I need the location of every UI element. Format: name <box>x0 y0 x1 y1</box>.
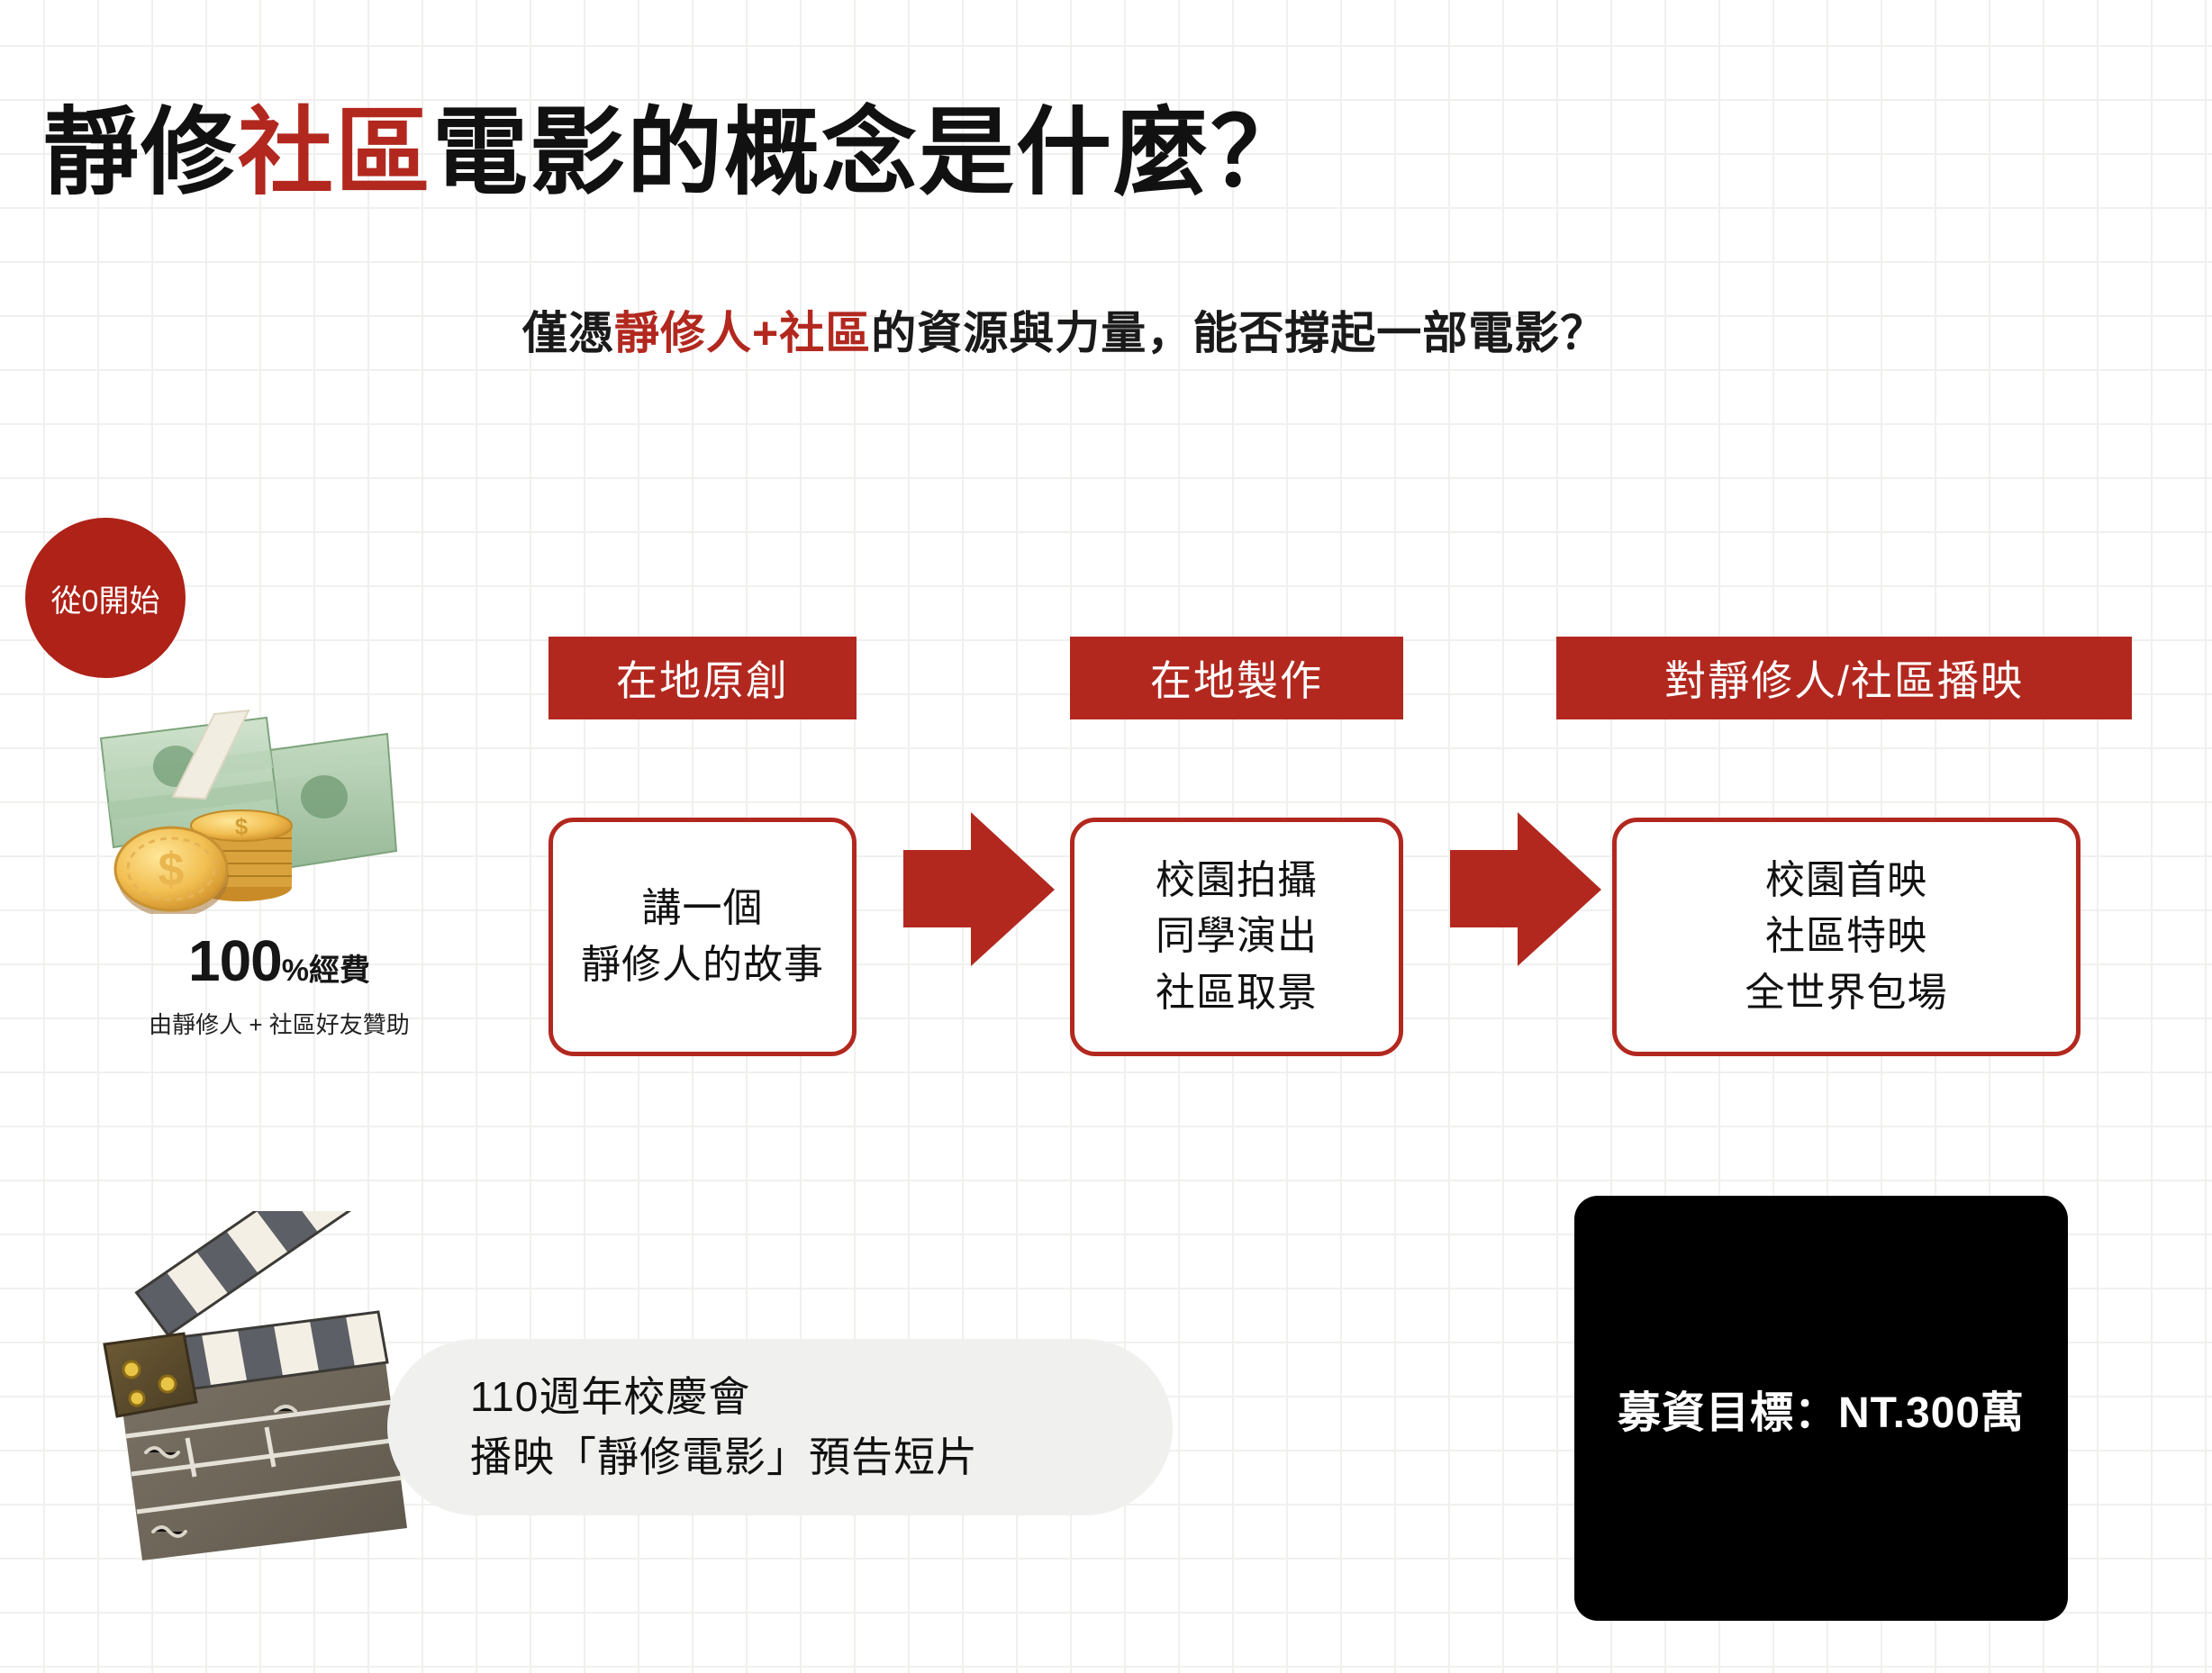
phase-item: 講一個 <box>642 881 764 936</box>
page-subtitle-part2: 的資源與力量，能否撐起一部電影？ <box>871 308 1606 358</box>
phase-header-label: 對靜修人/社區播映 <box>1664 648 2024 708</box>
page-title: 靜修社區電影的概念是什麼？ <box>43 101 1308 206</box>
page-title-part2: 電影的概念是什麼？ <box>432 100 1308 206</box>
phase-item: 社區取景 <box>1156 965 1318 1021</box>
phase-card-screening: 校園首映 社區特映 全世界包場 <box>1612 818 2081 1056</box>
money-cash-stack-icon: $ $ <box>90 671 405 914</box>
film-clapperboard-icon <box>90 1211 423 1562</box>
event-callout-bubble: 110週年校慶會 播映「靜修電影」預告短片 <box>387 1339 1173 1515</box>
svg-text:$: $ <box>159 844 185 896</box>
phase-header-screening: 對靜修人/社區播映 <box>1556 637 2132 719</box>
page-title-highlight: 社區 <box>238 100 432 206</box>
start-from-zero-label: 從0開始 <box>51 576 160 620</box>
phase-card-local-production: 校園拍攝 同學演出 社區取景 <box>1070 818 1403 1056</box>
budget-note: 由靜修人 + 社區好友贊助 <box>90 1007 468 1040</box>
start-from-zero-badge: 從0開始 <box>25 518 186 678</box>
funding-goal-panel: 募資目標：NT.300萬 <box>1574 1196 2068 1621</box>
budget-percentage: 100%經費 <box>99 927 459 994</box>
right-block-arrow-icon <box>903 810 1056 968</box>
page-subtitle-highlight: 靜修人+社區 <box>614 308 871 358</box>
slide-canvas: 靜修社區電影的概念是什麼？ 僅憑靜修人+社區的資源與力量，能否撐起一部電影？ 從… <box>0 0 2212 1673</box>
page-subtitle-part1: 僅憑 <box>522 308 614 358</box>
phase-item: 同學演出 <box>1156 909 1318 964</box>
phase-card-local-original: 講一個 靜修人的故事 <box>548 818 857 1056</box>
page-title-part1: 靜修 <box>43 100 238 206</box>
phase-item: 校園首映 <box>1765 853 1927 909</box>
phase-item: 校園拍攝 <box>1156 853 1318 909</box>
phase-header-label: 在地製作 <box>1150 648 1323 708</box>
budget-percent-value: 100 <box>188 928 282 993</box>
phase-header-local-original: 在地原創 <box>548 637 857 719</box>
phase-item: 全世界包場 <box>1745 965 1948 1021</box>
page-subtitle: 僅憑靜修人+社區的資源與力量，能否撐起一部電影？ <box>522 297 1606 362</box>
svg-text:$: $ <box>235 813 249 840</box>
budget-percent-unit: %經費 <box>282 954 370 988</box>
event-line: 播映「靜修電影」預告短片 <box>470 1427 1173 1488</box>
funding-goal-label: 募資目標：NT.300萬 <box>1618 1377 2025 1440</box>
right-block-arrow-icon <box>1450 810 1603 968</box>
phase-item: 靜修人的故事 <box>581 937 824 993</box>
phase-header-label: 在地原創 <box>616 648 789 708</box>
event-line: 110週年校慶會 <box>470 1367 1173 1427</box>
phase-header-local-production: 在地製作 <box>1070 637 1403 719</box>
phase-item: 社區特映 <box>1765 909 1927 964</box>
